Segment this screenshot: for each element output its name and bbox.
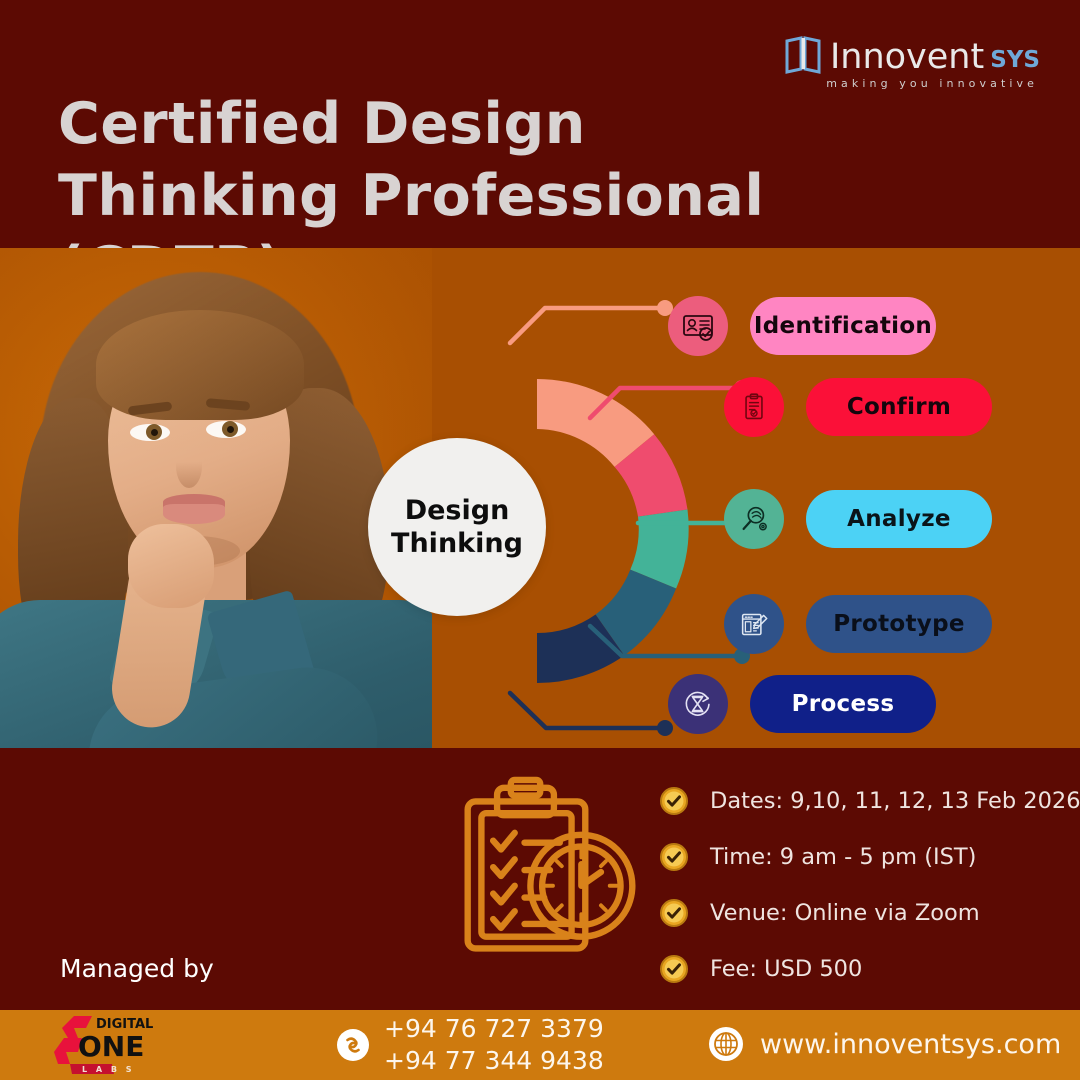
step-row-confirm[interactable]: Confirm xyxy=(724,377,992,437)
step-pill-identification[interactable]: Identification xyxy=(750,297,936,355)
center-line-1: Design xyxy=(405,495,510,526)
step-row-process[interactable]: Process xyxy=(668,674,936,734)
book-icon xyxy=(784,36,824,74)
check-circle-icon xyxy=(660,843,688,871)
step-pill-prototype[interactable]: Prototype xyxy=(806,595,992,653)
center-line-2: Thinking xyxy=(391,528,523,559)
svg-text:L A B S: L A B S xyxy=(82,1065,135,1074)
logo-wordmark: Innovent xyxy=(830,40,984,74)
step-pill-process[interactable]: Process xyxy=(750,675,936,733)
step-icon-identification xyxy=(668,296,728,356)
poster: Innovent SYS making you innovative Certi… xyxy=(0,0,1080,1080)
step-icon-prototype xyxy=(724,594,784,654)
detail-text-dates: Dates: 9,10, 11, 12, 13 Feb 2026 xyxy=(710,788,1080,814)
donut-center-circle: Design Thinking xyxy=(368,438,546,616)
step-icon-process xyxy=(668,674,728,734)
website-url[interactable]: www.innoventsys.com xyxy=(760,1029,1061,1060)
step-row-analyze[interactable]: Analyze xyxy=(724,489,992,549)
clipboard-clock-icon xyxy=(452,776,648,972)
detail-row-venue: Venue: Online via Zoom xyxy=(660,896,1060,930)
check-circle-icon xyxy=(660,899,688,927)
logo-suffix: SYS xyxy=(990,46,1040,74)
footer-phone-block[interactable]: +94 76 727 3379 +94 77 344 9438 xyxy=(336,1013,604,1077)
detail-row-fee: Fee: USD 500 xyxy=(660,952,1060,986)
donut-center-label: Design Thinking xyxy=(391,494,523,560)
step-pill-analyze[interactable]: Analyze xyxy=(806,490,992,548)
globe-icon xyxy=(708,1026,744,1062)
svg-text:ONE: ONE xyxy=(78,1030,144,1063)
detail-text-time: Time: 9 am - 5 pm (IST) xyxy=(710,844,976,870)
phone-number-1[interactable]: +94 76 727 3379 xyxy=(384,1013,604,1045)
step-icon-confirm xyxy=(724,377,784,437)
title-line-1: Certified Design xyxy=(58,88,988,160)
detail-text-venue: Venue: Online via Zoom xyxy=(710,900,980,926)
check-circle-icon xyxy=(660,955,688,983)
digital-one-labs-logo: DIGITAL ONE L A B S xyxy=(52,1012,162,1078)
detail-row-time: Time: 9 am - 5 pm (IST) xyxy=(660,840,1060,874)
managed-by-label: Managed by xyxy=(60,954,214,983)
whatsapp-icon xyxy=(336,1028,370,1062)
header-bar: Innovent SYS making you innovative Certi… xyxy=(0,0,1080,248)
logo-row: Innovent SYS xyxy=(784,36,1040,74)
phone-numbers: +94 76 727 3379 +94 77 344 9438 xyxy=(384,1013,604,1077)
step-icon-analyze xyxy=(724,489,784,549)
step-row-prototype[interactable]: Prototype xyxy=(724,594,992,654)
details-list: Dates: 9,10, 11, 12, 13 Feb 2026 Time: 9… xyxy=(660,784,1060,1008)
footer-website-block[interactable]: www.innoventsys.com xyxy=(708,1026,1061,1062)
step-pill-confirm[interactable]: Confirm xyxy=(806,378,992,436)
phone-number-2[interactable]: +94 77 344 9438 xyxy=(384,1045,604,1077)
check-circle-icon xyxy=(660,787,688,815)
detail-row-dates: Dates: 9,10, 11, 12, 13 Feb 2026 xyxy=(660,784,1060,818)
detail-text-fee: Fee: USD 500 xyxy=(710,956,862,982)
step-row-identification[interactable]: Identification xyxy=(668,296,936,356)
